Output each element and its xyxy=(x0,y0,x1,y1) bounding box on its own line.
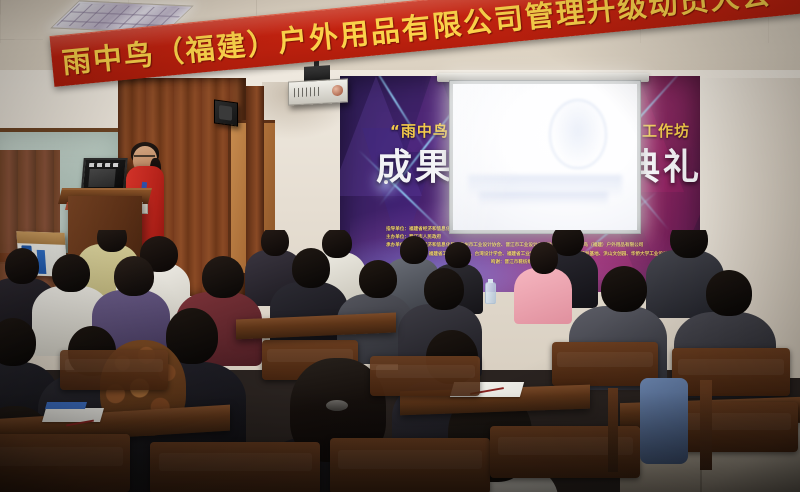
chair-back xyxy=(330,438,490,492)
projection-screen xyxy=(453,84,637,230)
chair-back xyxy=(672,348,790,396)
head xyxy=(445,242,471,268)
wall-speaker-icon xyxy=(214,99,238,126)
torso xyxy=(514,268,572,324)
head xyxy=(52,254,90,292)
ceiling-projector xyxy=(288,78,348,105)
chair-back xyxy=(150,442,320,492)
chair-back xyxy=(370,356,480,396)
chair-back xyxy=(60,350,168,390)
audience-area xyxy=(0,230,800,492)
monitor-top-controls xyxy=(89,163,119,167)
head xyxy=(601,266,647,312)
head xyxy=(261,230,289,256)
conference-hall-photo: “雨中鸟 工作坊 成果 典礼 指导单位：福建省经济和信息化委员会 主办单位：晋江… xyxy=(0,0,800,492)
head xyxy=(202,256,244,298)
head xyxy=(400,236,428,264)
projection-screen-frame xyxy=(449,80,641,234)
bench-leg xyxy=(700,380,712,470)
head xyxy=(706,270,752,316)
backdrop-title-left: 成果 xyxy=(376,138,454,190)
monitor-screen xyxy=(88,169,116,187)
hair-clip-icon xyxy=(326,400,348,411)
head xyxy=(114,256,154,296)
head xyxy=(97,230,127,252)
document-sheet xyxy=(42,408,104,422)
projector-vents xyxy=(294,87,322,97)
projector-lens-icon xyxy=(332,85,343,97)
head xyxy=(359,260,397,298)
seated-legs xyxy=(640,378,688,464)
blue-folder xyxy=(45,402,87,409)
head xyxy=(322,230,352,258)
head xyxy=(292,248,330,288)
head xyxy=(424,268,464,310)
screen-glare xyxy=(453,84,582,230)
water-bottle xyxy=(485,282,496,304)
chair-back xyxy=(0,434,130,492)
head xyxy=(5,248,39,284)
bench-leg xyxy=(608,388,618,472)
head xyxy=(530,242,558,274)
head xyxy=(670,230,708,258)
